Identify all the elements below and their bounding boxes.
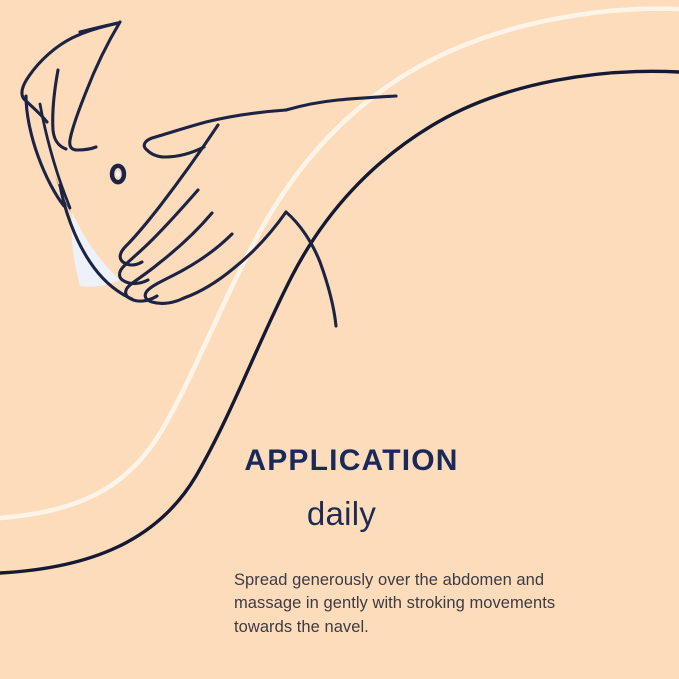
poster-canvas: APPLICATION daily Spread generously over… bbox=[0, 0, 679, 679]
instructions-line-1: Spread generously over the abdomen and bbox=[234, 569, 654, 592]
instructions-line-2: massage in gently with stroking movement… bbox=[234, 592, 654, 615]
navel-inner-icon bbox=[116, 171, 120, 177]
instructions-line-3: towards the navel. bbox=[234, 616, 654, 639]
page-title: APPLICATION bbox=[12, 444, 679, 477]
frequency-label: daily bbox=[2, 495, 679, 533]
instructions-text: Spread generously over the abdomen and m… bbox=[234, 569, 654, 639]
